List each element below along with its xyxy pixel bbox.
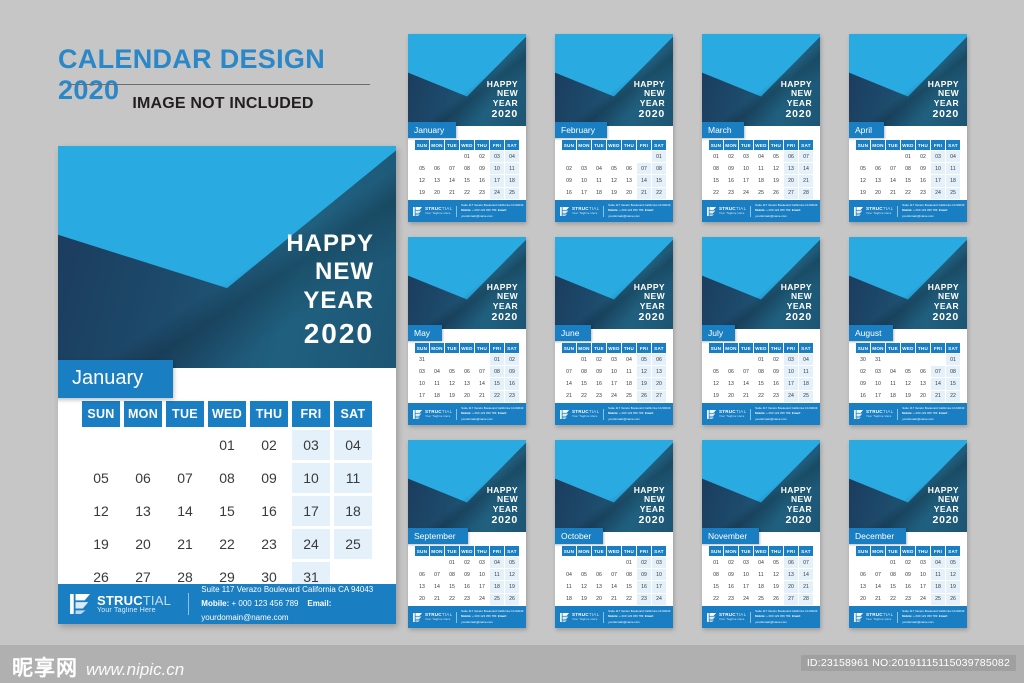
calendar-day-cell[interactable]: 16 xyxy=(250,496,288,526)
calendar-day-cell[interactable]: 10 xyxy=(652,569,666,580)
calendar-day-cell[interactable]: 04 xyxy=(622,354,636,365)
calendar-day-cell[interactable]: 15 xyxy=(754,378,768,389)
calendar-day-cell[interactable]: 15 xyxy=(946,378,960,389)
calendar-day-cell[interactable]: 04 xyxy=(562,569,576,580)
calendar-day-cell[interactable]: 04 xyxy=(334,430,372,460)
calendar-day-cell[interactable]: 02 xyxy=(562,163,576,174)
brand-logo[interactable]: STRUCTIALYour Tagline Here xyxy=(555,207,599,216)
calendar-day-cell[interactable]: 17 xyxy=(607,378,621,389)
calendar-day-cell[interactable]: 12 xyxy=(901,378,915,389)
calendar-day-cell[interactable]: 12 xyxy=(445,378,459,389)
calendar-day-cell[interactable]: 09 xyxy=(460,569,474,580)
calendar-day-cell[interactable]: 16 xyxy=(856,391,870,402)
calendar-day-cell[interactable]: 21 xyxy=(430,594,444,605)
calendar-day-cell[interactable]: 13 xyxy=(415,581,429,592)
calendar-day-cell[interactable]: 05 xyxy=(445,366,459,377)
month-card-april[interactable]: HAPPYNEWYEAR2020AprilSUNMONTUEWEDTHUFRIS… xyxy=(849,34,967,222)
calendar-day-cell[interactable]: 24 xyxy=(916,594,930,605)
calendar-day-cell[interactable]: 05 xyxy=(946,557,960,568)
calendar-day-cell[interactable]: 12 xyxy=(577,581,591,592)
calendar-day-cell[interactable]: 06 xyxy=(784,557,798,568)
calendar-day-cell[interactable]: 02 xyxy=(505,354,519,365)
calendar-day-cell[interactable]: 01 xyxy=(208,430,246,460)
calendar-day-cell[interactable]: 13 xyxy=(871,175,885,186)
month-name-tab[interactable]: November xyxy=(702,528,759,544)
calendar-day-cell[interactable]: 22 xyxy=(754,391,768,402)
calendar-day-cell[interactable]: 20 xyxy=(415,594,429,605)
calendar-day-cell[interactable]: 27 xyxy=(652,391,666,402)
calendar-day-cell[interactable]: 16 xyxy=(901,581,915,592)
month-card-march[interactable]: HAPPYNEWYEAR2020MarchSUNMONTUEWEDTHUFRIS… xyxy=(702,34,820,222)
calendar-day-cell[interactable]: 02 xyxy=(460,557,474,568)
calendar-day-cell[interactable]: 22 xyxy=(652,188,666,199)
calendar-day-cell[interactable]: 15 xyxy=(901,175,915,186)
calendar-day-cell[interactable]: 23 xyxy=(637,594,651,605)
calendar-day-cell[interactable]: 01 xyxy=(445,557,459,568)
calendar-day-cell[interactable]: 24 xyxy=(490,188,504,199)
month-name-tab[interactable]: April xyxy=(849,122,884,138)
calendar-day-cell[interactable]: 07 xyxy=(475,366,489,377)
calendar-day-cell[interactable]: 06 xyxy=(916,366,930,377)
calendar-day-cell[interactable]: 04 xyxy=(799,354,813,365)
calendar-day-cell[interactable]: 17 xyxy=(871,391,885,402)
calendar-day-cell[interactable]: 15 xyxy=(622,581,636,592)
calendar-day-cell[interactable]: 02 xyxy=(475,151,489,162)
calendar-day-cell[interactable]: 22 xyxy=(886,594,900,605)
calendar-day-cell[interactable]: 17 xyxy=(931,175,945,186)
calendar-day-cell[interactable]: 08 xyxy=(709,163,723,174)
calendar-day-cell[interactable]: 10 xyxy=(475,569,489,580)
calendar-day-cell[interactable]: 16 xyxy=(592,378,606,389)
calendar-day-cell[interactable]: 04 xyxy=(946,151,960,162)
calendar-day-cell[interactable]: 22 xyxy=(709,594,723,605)
calendar-day-cell[interactable]: 17 xyxy=(739,175,753,186)
calendar-day-cell[interactable]: 04 xyxy=(505,151,519,162)
calendar-day-cell[interactable]: 02 xyxy=(916,151,930,162)
calendar-day-cell[interactable]: 24 xyxy=(931,188,945,199)
calendar-day-cell[interactable]: 21 xyxy=(871,594,885,605)
month-card-october[interactable]: HAPPYNEWYEAR2020OctoberSUNMONTUEWEDTHUFR… xyxy=(555,440,673,628)
calendar-day-cell[interactable]: 11 xyxy=(334,463,372,493)
calendar-day-cell[interactable]: 25 xyxy=(754,188,768,199)
calendar-day-cell[interactable]: 07 xyxy=(430,569,444,580)
calendar-day-cell[interactable]: 09 xyxy=(901,569,915,580)
calendar-day-cell[interactable]: 13 xyxy=(724,378,738,389)
calendar-day-cell[interactable]: 09 xyxy=(505,366,519,377)
calendar-day-cell[interactable]: 21 xyxy=(562,391,576,402)
month-card-february[interactable]: HAPPYNEWYEAR2020FebruarySUNMONTUEWEDTHUF… xyxy=(555,34,673,222)
calendar-day-cell[interactable]: 20 xyxy=(856,594,870,605)
brand-logo[interactable]: STRUCTIALYour Tagline Here xyxy=(408,207,452,216)
calendar-day-cell[interactable]: 07 xyxy=(637,163,651,174)
calendar-day-cell[interactable]: 14 xyxy=(562,378,576,389)
calendar-day-cell[interactable]: 28 xyxy=(799,594,813,605)
calendar-day-cell[interactable]: 18 xyxy=(754,175,768,186)
calendar-day-cell[interactable]: 11 xyxy=(946,163,960,174)
calendar-day-cell[interactable]: 11 xyxy=(754,163,768,174)
calendar-day-cell[interactable]: 02 xyxy=(856,366,870,377)
calendar-day-cell[interactable]: 27 xyxy=(784,188,798,199)
calendar-day-cell[interactable]: 23 xyxy=(724,188,738,199)
calendar-day-cell[interactable]: 05 xyxy=(82,463,120,493)
calendar-day-cell[interactable]: 18 xyxy=(592,188,606,199)
calendar-day-cell[interactable]: 03 xyxy=(577,163,591,174)
calendar-day-cell[interactable]: 21 xyxy=(739,391,753,402)
calendar-day-cell[interactable]: 08 xyxy=(652,163,666,174)
month-card-july[interactable]: HAPPYNEWYEAR2020JulySUNMONTUEWEDTHUFRISA… xyxy=(702,237,820,425)
calendar-day-cell[interactable]: 08 xyxy=(754,366,768,377)
calendar-day-cell[interactable]: 21 xyxy=(607,594,621,605)
calendar-day-cell[interactable]: 15 xyxy=(577,378,591,389)
calendar-day-cell[interactable]: 06 xyxy=(124,463,162,493)
calendar-day-cell[interactable]: 08 xyxy=(208,463,246,493)
calendar-day-cell[interactable]: 17 xyxy=(739,581,753,592)
calendar-day-cell[interactable]: 02 xyxy=(769,354,783,365)
calendar-day-cell[interactable]: 18 xyxy=(622,378,636,389)
calendar-day-cell[interactable]: 15 xyxy=(490,378,504,389)
calendar-day-cell[interactable]: 04 xyxy=(754,151,768,162)
calendar-day-cell[interactable]: 28 xyxy=(799,188,813,199)
calendar-day-cell[interactable]: 13 xyxy=(460,378,474,389)
calendar-day-cell[interactable]: 15 xyxy=(652,175,666,186)
calendar-day-cell[interactable]: 13 xyxy=(784,569,798,580)
calendar-day-cell[interactable]: 01 xyxy=(577,354,591,365)
calendar-day-cell[interactable]: 02 xyxy=(724,151,738,162)
calendar-day-cell[interactable]: 17 xyxy=(916,581,930,592)
calendar-day-cell[interactable]: 03 xyxy=(607,354,621,365)
month-card-june[interactable]: HAPPYNEWYEAR2020JuneSUNMONTUEWEDTHUFRISA… xyxy=(555,237,673,425)
brand-logo[interactable]: STRUCTIAL Your Tagline Here xyxy=(58,594,176,615)
calendar-day-cell[interactable]: 22 xyxy=(901,188,915,199)
calendar-day-cell[interactable]: 22 xyxy=(577,391,591,402)
calendar-day-cell[interactable]: 13 xyxy=(430,175,444,186)
calendar-day-cell[interactable]: 21 xyxy=(166,529,204,559)
calendar-day-cell[interactable]: 20 xyxy=(784,175,798,186)
calendar-day-cell[interactable]: 06 xyxy=(622,163,636,174)
calendar-day-cell[interactable]: 07 xyxy=(562,366,576,377)
calendar-day-cell[interactable]: 09 xyxy=(592,366,606,377)
calendar-day-cell[interactable]: 23 xyxy=(769,391,783,402)
calendar-day-cell[interactable]: 19 xyxy=(577,594,591,605)
calendar-day-cell[interactable]: 11 xyxy=(490,569,504,580)
calendar-day-cell[interactable]: 07 xyxy=(607,569,621,580)
month-name-tab[interactable]: August xyxy=(849,325,893,341)
calendar-day-cell[interactable]: 01 xyxy=(652,151,666,162)
calendar-day-cell[interactable]: 16 xyxy=(637,581,651,592)
calendar-day-cell[interactable]: 24 xyxy=(652,594,666,605)
calendar-day-cell[interactable]: 26 xyxy=(769,188,783,199)
calendar-day-cell[interactable]: 24 xyxy=(475,594,489,605)
calendar-day-cell[interactable]: 11 xyxy=(592,175,606,186)
calendar-day-cell[interactable]: 19 xyxy=(856,188,870,199)
calendar-day-cell[interactable]: 12 xyxy=(637,366,651,377)
calendar-day-cell[interactable]: 18 xyxy=(562,594,576,605)
calendar-day-cell[interactable]: 03 xyxy=(475,557,489,568)
calendar-day-cell[interactable]: 07 xyxy=(739,366,753,377)
calendar-day-cell[interactable]: 03 xyxy=(871,366,885,377)
calendar-day-cell[interactable]: 08 xyxy=(709,569,723,580)
calendar-day-cell[interactable]: 12 xyxy=(82,496,120,526)
calendar-day-cell[interactable]: 21 xyxy=(799,581,813,592)
calendar-day-cell[interactable]: 10 xyxy=(607,366,621,377)
month-name-tab[interactable]: June xyxy=(555,325,591,341)
calendar-day-cell[interactable]: 03 xyxy=(739,151,753,162)
calendar-day-cell[interactable]: 02 xyxy=(250,430,288,460)
calendar-day-cell[interactable]: 12 xyxy=(769,163,783,174)
calendar-day-cell[interactable]: 04 xyxy=(592,163,606,174)
calendar-day-cell[interactable]: 14 xyxy=(799,163,813,174)
calendar-day-cell[interactable]: 18 xyxy=(946,175,960,186)
calendar-day-cell[interactable]: 05 xyxy=(769,151,783,162)
calendar-day-cell[interactable]: 20 xyxy=(724,391,738,402)
calendar-day-cell[interactable]: 14 xyxy=(430,581,444,592)
calendar-day-cell[interactable]: 14 xyxy=(871,581,885,592)
calendar-day-cell[interactable]: 09 xyxy=(475,163,489,174)
calendar-day-cell[interactable]: 06 xyxy=(415,569,429,580)
calendar-day-cell[interactable]: 14 xyxy=(739,378,753,389)
calendar-day-cell[interactable]: 22 xyxy=(709,188,723,199)
calendar-day-cell[interactable]: 22 xyxy=(208,529,246,559)
calendar-day-cell[interactable]: 16 xyxy=(460,581,474,592)
calendar-day-cell[interactable]: 23 xyxy=(250,529,288,559)
month-name-tab[interactable]: October xyxy=(555,528,603,544)
calendar-day-cell[interactable]: 03 xyxy=(415,366,429,377)
calendar-day-cell[interactable]: 14 xyxy=(637,175,651,186)
calendar-day-cell[interactable]: 22 xyxy=(445,594,459,605)
month-name-tab[interactable]: January xyxy=(408,122,456,138)
calendar-day-cell[interactable]: 22 xyxy=(460,188,474,199)
calendar-day-cell[interactable]: 01 xyxy=(886,557,900,568)
calendar-day-cell[interactable]: 14 xyxy=(886,175,900,186)
calendar-day-cell[interactable]: 24 xyxy=(607,391,621,402)
calendar-day-cell[interactable]: 15 xyxy=(445,581,459,592)
calendar-day-cell[interactable]: 10 xyxy=(784,366,798,377)
month-name-tab[interactable]: February xyxy=(555,122,607,138)
calendar-day-cell[interactable]: 26 xyxy=(505,594,519,605)
calendar-day-cell[interactable]: 07 xyxy=(799,151,813,162)
month-card-december[interactable]: HAPPYNEWYEAR2020DecemberSUNMONTUEWEDTHUF… xyxy=(849,440,967,628)
calendar-day-cell[interactable]: 06 xyxy=(460,366,474,377)
calendar-day-cell[interactable]: 18 xyxy=(505,175,519,186)
calendar-day-cell[interactable]: 12 xyxy=(769,569,783,580)
brand-logo[interactable]: STRUCTIALYour Tagline Here xyxy=(408,410,452,419)
brand-logo[interactable]: STRUCTIALYour Tagline Here xyxy=(555,613,599,622)
calendar-day-cell[interactable]: 10 xyxy=(577,175,591,186)
calendar-day-cell[interactable]: 20 xyxy=(430,188,444,199)
month-name-tab[interactable]: July xyxy=(702,325,735,341)
calendar-day-cell[interactable]: 18 xyxy=(490,581,504,592)
calendar-day-cell[interactable]: 26 xyxy=(637,391,651,402)
calendar-day-cell[interactable]: 24 xyxy=(739,594,753,605)
calendar-day-cell[interactable]: 08 xyxy=(445,569,459,580)
calendar-day-cell[interactable]: 16 xyxy=(769,378,783,389)
calendar-day-cell[interactable]: 17 xyxy=(415,391,429,402)
calendar-day-cell[interactable]: 12 xyxy=(607,175,621,186)
calendar-day-cell[interactable]: 09 xyxy=(562,175,576,186)
calendar-day-cell[interactable]: 12 xyxy=(946,569,960,580)
calendar-day-cell[interactable]: 08 xyxy=(622,569,636,580)
calendar-day-cell[interactable]: 11 xyxy=(505,163,519,174)
calendar-day-cell[interactable]: 05 xyxy=(607,163,621,174)
calendar-day-cell[interactable]: 19 xyxy=(637,378,651,389)
calendar-day-cell[interactable]: 21 xyxy=(637,188,651,199)
calendar-day-cell[interactable]: 14 xyxy=(475,378,489,389)
calendar-day-cell[interactable]: 03 xyxy=(784,354,798,365)
calendar-day-cell[interactable]: 14 xyxy=(799,569,813,580)
calendar-day-cell[interactable]: 04 xyxy=(430,366,444,377)
calendar-day-cell[interactable]: 04 xyxy=(886,366,900,377)
calendar-day-cell[interactable]: 14 xyxy=(166,496,204,526)
month-name-tab[interactable]: September xyxy=(408,528,468,544)
calendar-day-cell[interactable]: 12 xyxy=(505,569,519,580)
calendar-day-cell[interactable]: 08 xyxy=(460,163,474,174)
calendar-day-cell[interactable]: 08 xyxy=(886,569,900,580)
calendar-day-cell[interactable]: 02 xyxy=(724,557,738,568)
month-card-september[interactable]: HAPPYNEWYEAR2020SeptemberSUNMONTUEWEDTHU… xyxy=(408,440,526,628)
calendar-day-cell[interactable]: 05 xyxy=(577,569,591,580)
calendar-day-cell[interactable]: 17 xyxy=(490,175,504,186)
brand-logo[interactable]: STRUCTIALYour Tagline Here xyxy=(702,207,746,216)
calendar-day-cell[interactable]: 17 xyxy=(475,581,489,592)
calendar-day-cell[interactable]: 21 xyxy=(931,391,945,402)
calendar-day-cell[interactable]: 03 xyxy=(292,430,330,460)
calendar-day-cell[interactable]: 23 xyxy=(724,594,738,605)
calendar-day-cell[interactable]: 25 xyxy=(505,188,519,199)
calendar-day-cell[interactable]: 16 xyxy=(562,188,576,199)
calendar-day-cell[interactable]: 14 xyxy=(931,378,945,389)
calendar-day-cell[interactable]: 02 xyxy=(637,557,651,568)
calendar-day-cell[interactable]: 11 xyxy=(430,378,444,389)
calendar-day-cell[interactable]: 04 xyxy=(931,557,945,568)
calendar-day-cell[interactable]: 27 xyxy=(784,594,798,605)
month-name-tab[interactable]: January xyxy=(58,360,173,398)
calendar-day-cell[interactable]: 03 xyxy=(931,151,945,162)
calendar-day-cell[interactable]: 20 xyxy=(784,581,798,592)
calendar-day-cell[interactable]: 01 xyxy=(709,151,723,162)
calendar-day-cell[interactable]: 16 xyxy=(724,581,738,592)
calendar-day-cell[interactable]: 05 xyxy=(505,557,519,568)
calendar-day-cell[interactable]: 05 xyxy=(415,163,429,174)
calendar-day-cell[interactable]: 10 xyxy=(916,569,930,580)
calendar-day-cell[interactable]: 21 xyxy=(445,188,459,199)
calendar-day-cell[interactable]: 22 xyxy=(490,391,504,402)
calendar-day-cell[interactable]: 17 xyxy=(292,496,330,526)
calendar-day-cell[interactable]: 02 xyxy=(592,354,606,365)
calendar-day-cell[interactable]: 20 xyxy=(652,378,666,389)
calendar-day-cell[interactable]: 23 xyxy=(916,188,930,199)
calendar-day-cell[interactable]: 18 xyxy=(334,496,372,526)
calendar-day-cell[interactable]: 21 xyxy=(799,175,813,186)
calendar-day-cell[interactable]: 03 xyxy=(652,557,666,568)
calendar-day-cell[interactable]: 25 xyxy=(931,594,945,605)
calendar-day-cell[interactable]: 16 xyxy=(505,378,519,389)
calendar-day-cell[interactable]: 03 xyxy=(916,557,930,568)
calendar-day-cell[interactable]: 10 xyxy=(739,569,753,580)
calendar-day-cell[interactable]: 10 xyxy=(871,378,885,389)
calendar-day-cell[interactable]: 01 xyxy=(946,354,960,365)
calendar-day-cell[interactable]: 01 xyxy=(709,557,723,568)
calendar-day-cell[interactable]: 31 xyxy=(415,354,429,365)
calendar-day-cell[interactable]: 19 xyxy=(445,391,459,402)
calendar-day-cell[interactable]: 08 xyxy=(577,366,591,377)
month-card-november[interactable]: HAPPYNEWYEAR2020NovemberSUNMONTUEWEDTHUF… xyxy=(702,440,820,628)
month-card-january[interactable]: HAPPYNEWYEAR2020JanuarySUNMONTUEWEDTHUFR… xyxy=(408,34,526,222)
calendar-day-cell[interactable]: 25 xyxy=(334,529,372,559)
calendar-day-cell[interactable]: 09 xyxy=(250,463,288,493)
calendar-day-cell[interactable]: 09 xyxy=(856,378,870,389)
calendar-day-cell[interactable]: 21 xyxy=(886,188,900,199)
calendar-day-cell[interactable]: 11 xyxy=(754,569,768,580)
calendar-day-cell[interactable]: 06 xyxy=(652,354,666,365)
calendar-day-cell[interactable]: 04 xyxy=(754,557,768,568)
calendar-day-cell[interactable]: 10 xyxy=(292,463,330,493)
calendar-day-cell[interactable]: 07 xyxy=(931,366,945,377)
calendar-day-cell[interactable]: 06 xyxy=(724,366,738,377)
calendar-day-cell[interactable]: 17 xyxy=(784,378,798,389)
calendar-day-cell[interactable]: 13 xyxy=(652,366,666,377)
calendar-day-cell[interactable]: 30 xyxy=(856,354,870,365)
calendar-day-cell[interactable]: 06 xyxy=(430,163,444,174)
calendar-day-cell[interactable]: 19 xyxy=(415,188,429,199)
calendar-day-cell[interactable]: 24 xyxy=(784,391,798,402)
calendar-day-cell[interactable]: 19 xyxy=(82,529,120,559)
calendar-day-cell[interactable]: 05 xyxy=(637,354,651,365)
brand-logo[interactable]: STRUCTIALYour Tagline Here xyxy=(849,410,893,419)
calendar-day-cell[interactable]: 15 xyxy=(709,581,723,592)
brand-logo[interactable]: STRUCTIALYour Tagline Here xyxy=(702,410,746,419)
calendar-day-cell[interactable]: 19 xyxy=(709,391,723,402)
brand-logo[interactable]: STRUCTIALYour Tagline Here xyxy=(849,207,893,216)
calendar-day-cell[interactable]: 03 xyxy=(739,557,753,568)
calendar-day-cell[interactable]: 07 xyxy=(799,557,813,568)
calendar-day-cell[interactable]: 11 xyxy=(931,569,945,580)
calendar-day-cell[interactable]: 07 xyxy=(445,163,459,174)
calendar-day-cell[interactable]: 15 xyxy=(208,496,246,526)
calendar-day-cell[interactable]: 07 xyxy=(871,569,885,580)
calendar-day-cell[interactable]: 16 xyxy=(724,175,738,186)
calendar-day-cell[interactable]: 03 xyxy=(490,151,504,162)
calendar-day-cell[interactable]: 01 xyxy=(901,151,915,162)
calendar-day-cell[interactable]: 14 xyxy=(445,175,459,186)
calendar-day-cell[interactable]: 18 xyxy=(931,581,945,592)
calendar-day-cell[interactable]: 18 xyxy=(754,581,768,592)
calendar-day-cell[interactable]: 06 xyxy=(784,151,798,162)
calendar-day-cell[interactable]: 07 xyxy=(886,163,900,174)
brand-logo[interactable]: STRUCTIALYour Tagline Here xyxy=(555,410,599,419)
calendar-day-cell[interactable]: 12 xyxy=(709,378,723,389)
calendar-day-cell[interactable]: 19 xyxy=(769,581,783,592)
calendar-day-cell[interactable]: 20 xyxy=(460,391,474,402)
calendar-day-cell[interactable]: 17 xyxy=(652,581,666,592)
month-name-tab[interactable]: May xyxy=(408,325,442,341)
calendar-day-cell[interactable]: 07 xyxy=(166,463,204,493)
calendar-day-cell[interactable]: 06 xyxy=(856,569,870,580)
calendar-day-cell[interactable]: 23 xyxy=(505,391,519,402)
calendar-day-cell[interactable]: 19 xyxy=(607,188,621,199)
calendar-day-cell[interactable]: 05 xyxy=(769,557,783,568)
calendar-day-cell[interactable]: 13 xyxy=(856,581,870,592)
calendar-day-cell[interactable]: 20 xyxy=(916,391,930,402)
calendar-day-cell[interactable]: 23 xyxy=(475,188,489,199)
calendar-day-cell[interactable]: 24 xyxy=(739,188,753,199)
calendar-day-cell[interactable]: 20 xyxy=(124,529,162,559)
calendar-day-cell[interactable]: 23 xyxy=(901,594,915,605)
calendar-day-cell[interactable]: 21 xyxy=(475,391,489,402)
month-name-tab[interactable]: March xyxy=(702,122,744,138)
calendar-day-cell[interactable]: 09 xyxy=(637,569,651,580)
calendar-day-cell[interactable]: 09 xyxy=(724,569,738,580)
calendar-day-cell[interactable]: 02 xyxy=(901,557,915,568)
